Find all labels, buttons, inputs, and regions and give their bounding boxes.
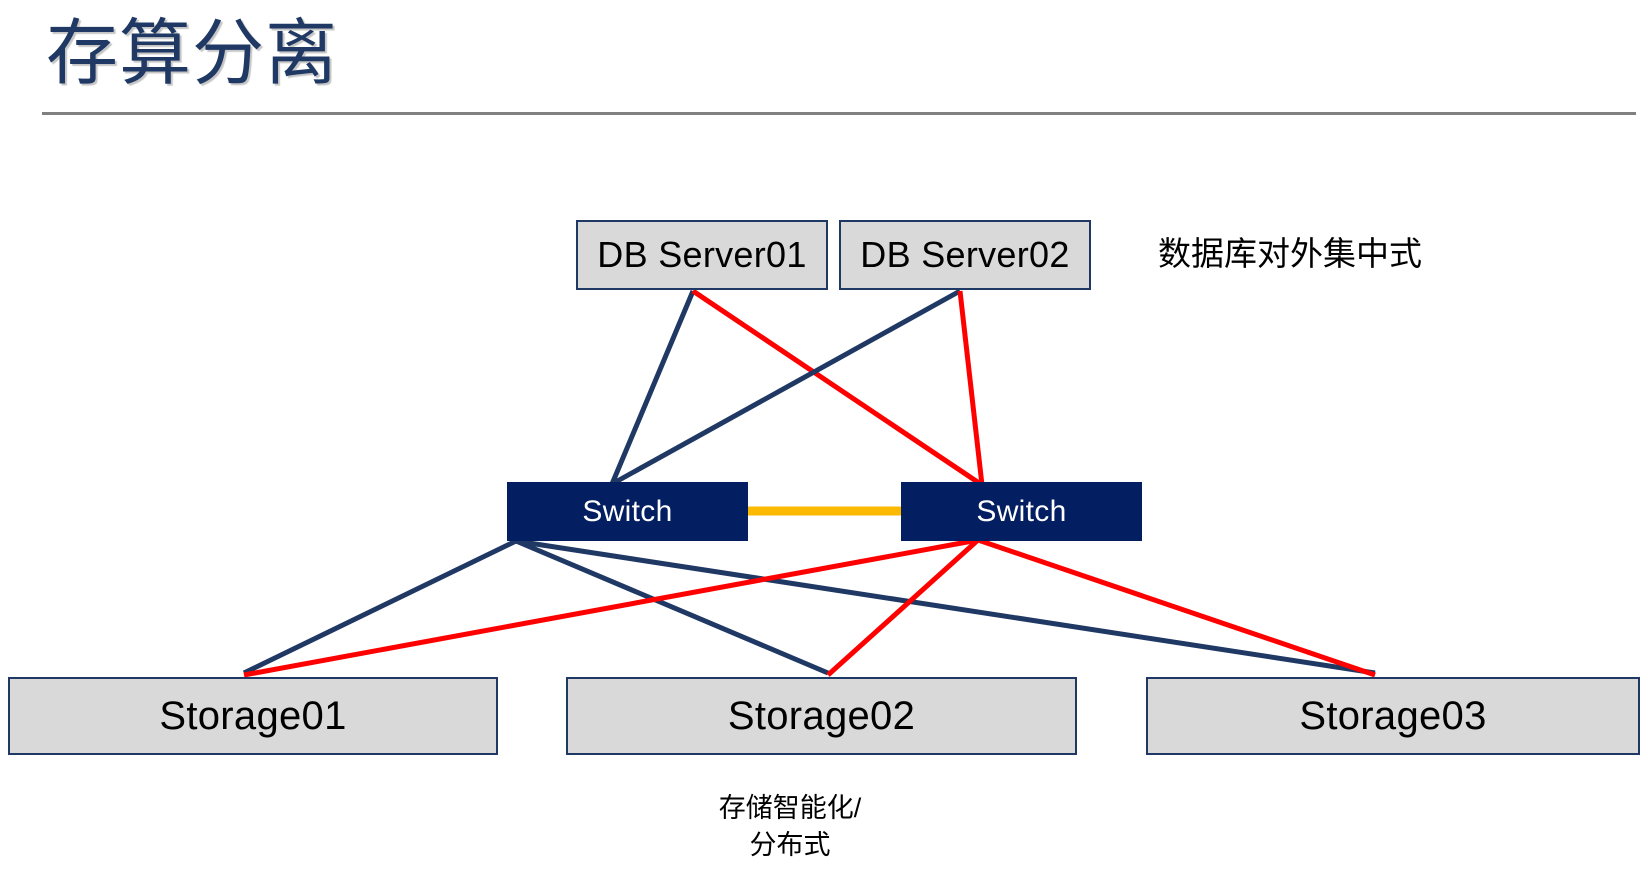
page-title: 存算分离 [46,8,338,100]
title-divider [42,112,1636,115]
node-storage-02-label: Storage02 [728,694,915,739]
node-db-server-01[interactable]: DB Server01 [576,220,828,290]
link-switch1-storage02 [516,541,828,673]
link-switch2-storage02 [828,540,978,675]
link-dbserver01-switch2 [693,291,982,485]
node-switch-1[interactable]: Switch [507,482,748,541]
link-switch2-storage03 [978,540,1375,675]
node-switch-1-label: Switch [582,495,672,529]
annotation-database-centralized: 数据库对外集中式 [1158,234,1422,274]
node-storage-02[interactable]: Storage02 [566,677,1077,755]
node-db-server-02-label: DB Server02 [860,234,1069,276]
annotation-storage-intelligent-line-2: 分布式 [645,827,935,864]
link-switch2-storage01 [244,540,978,675]
link-switch1-storage01 [244,541,516,673]
node-storage-01[interactable]: Storage01 [8,677,498,755]
node-db-server-01-label: DB Server01 [597,234,806,276]
node-storage-01-label: Storage01 [159,694,346,739]
node-switch-2[interactable]: Switch [901,482,1142,541]
node-storage-03[interactable]: Storage03 [1146,677,1640,755]
annotation-storage-intelligent: 存储智能化/ 分布式 [645,790,935,864]
link-dbserver02-switch2 [960,291,982,485]
node-db-server-02[interactable]: DB Server02 [839,220,1091,290]
link-switch1-storage03 [516,541,1375,673]
link-dbserver01-switch1 [612,291,693,484]
slide-canvas: 存算分离 DB Server01 DB Server02 Switch Swit… [0,0,1648,886]
annotation-storage-intelligent-line-1: 存储智能化/ [645,790,935,827]
node-storage-03-label: Storage03 [1299,694,1486,739]
link-dbserver02-switch1 [612,291,960,484]
node-switch-2-label: Switch [976,495,1066,529]
